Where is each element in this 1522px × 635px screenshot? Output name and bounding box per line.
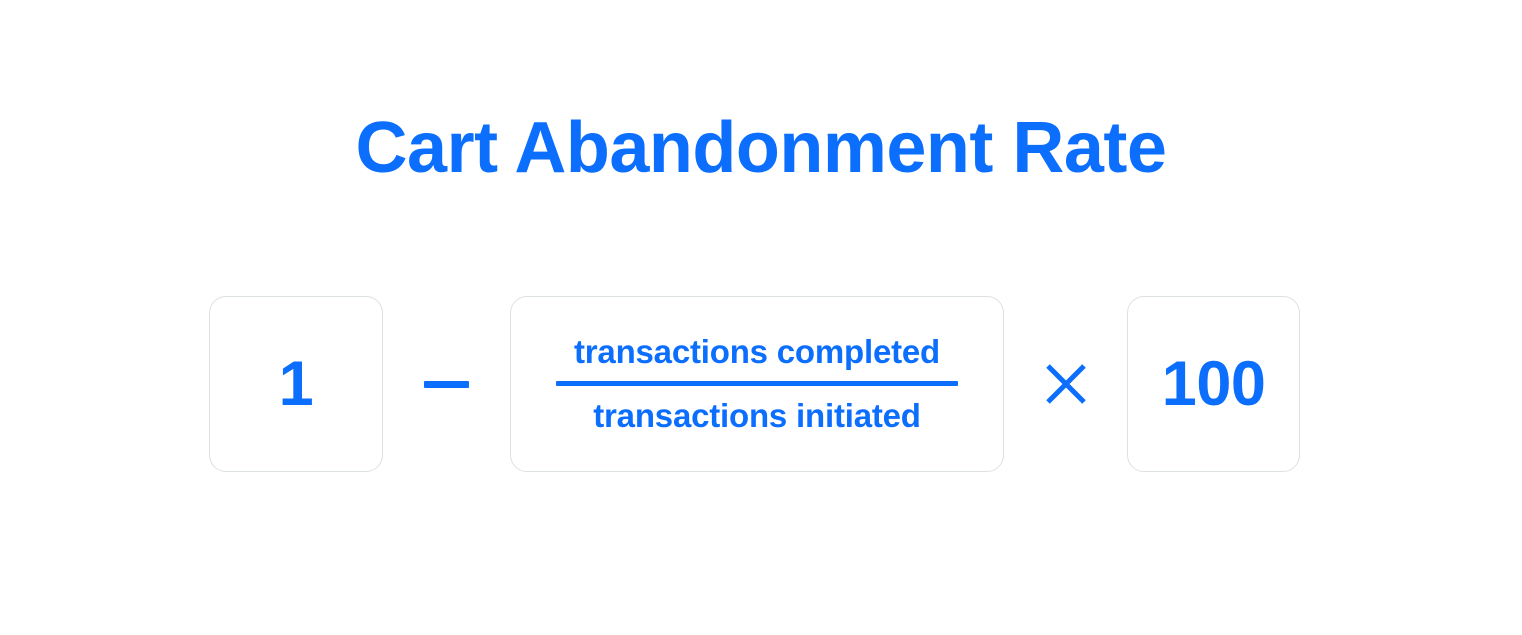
multiply-operator: [1004, 296, 1127, 472]
formula-term-hundred-value: 100: [1162, 353, 1266, 416]
formula-term-one-value: 1: [279, 353, 314, 416]
fraction-denominator: transactions initiated: [593, 394, 921, 438]
formula-term-hundred-box: 100: [1127, 296, 1300, 472]
multiply-icon: [1044, 362, 1088, 406]
formula-equation: 1 transactions completed transactions in…: [209, 296, 1300, 472]
page-title: Cart Abandonment Rate: [0, 96, 1522, 200]
fraction-numerator: transactions completed: [574, 330, 940, 374]
formula-canvas: Cart Abandonment Rate 1 transactions com…: [0, 0, 1522, 635]
fraction-stack: transactions completed transactions init…: [511, 330, 1004, 438]
formula-fraction-box: transactions completed transactions init…: [510, 296, 1005, 472]
fraction-bar: [556, 381, 958, 386]
minus-icon: [424, 381, 469, 388]
formula-term-one-box: 1: [209, 296, 383, 472]
minus-operator: [383, 296, 510, 472]
